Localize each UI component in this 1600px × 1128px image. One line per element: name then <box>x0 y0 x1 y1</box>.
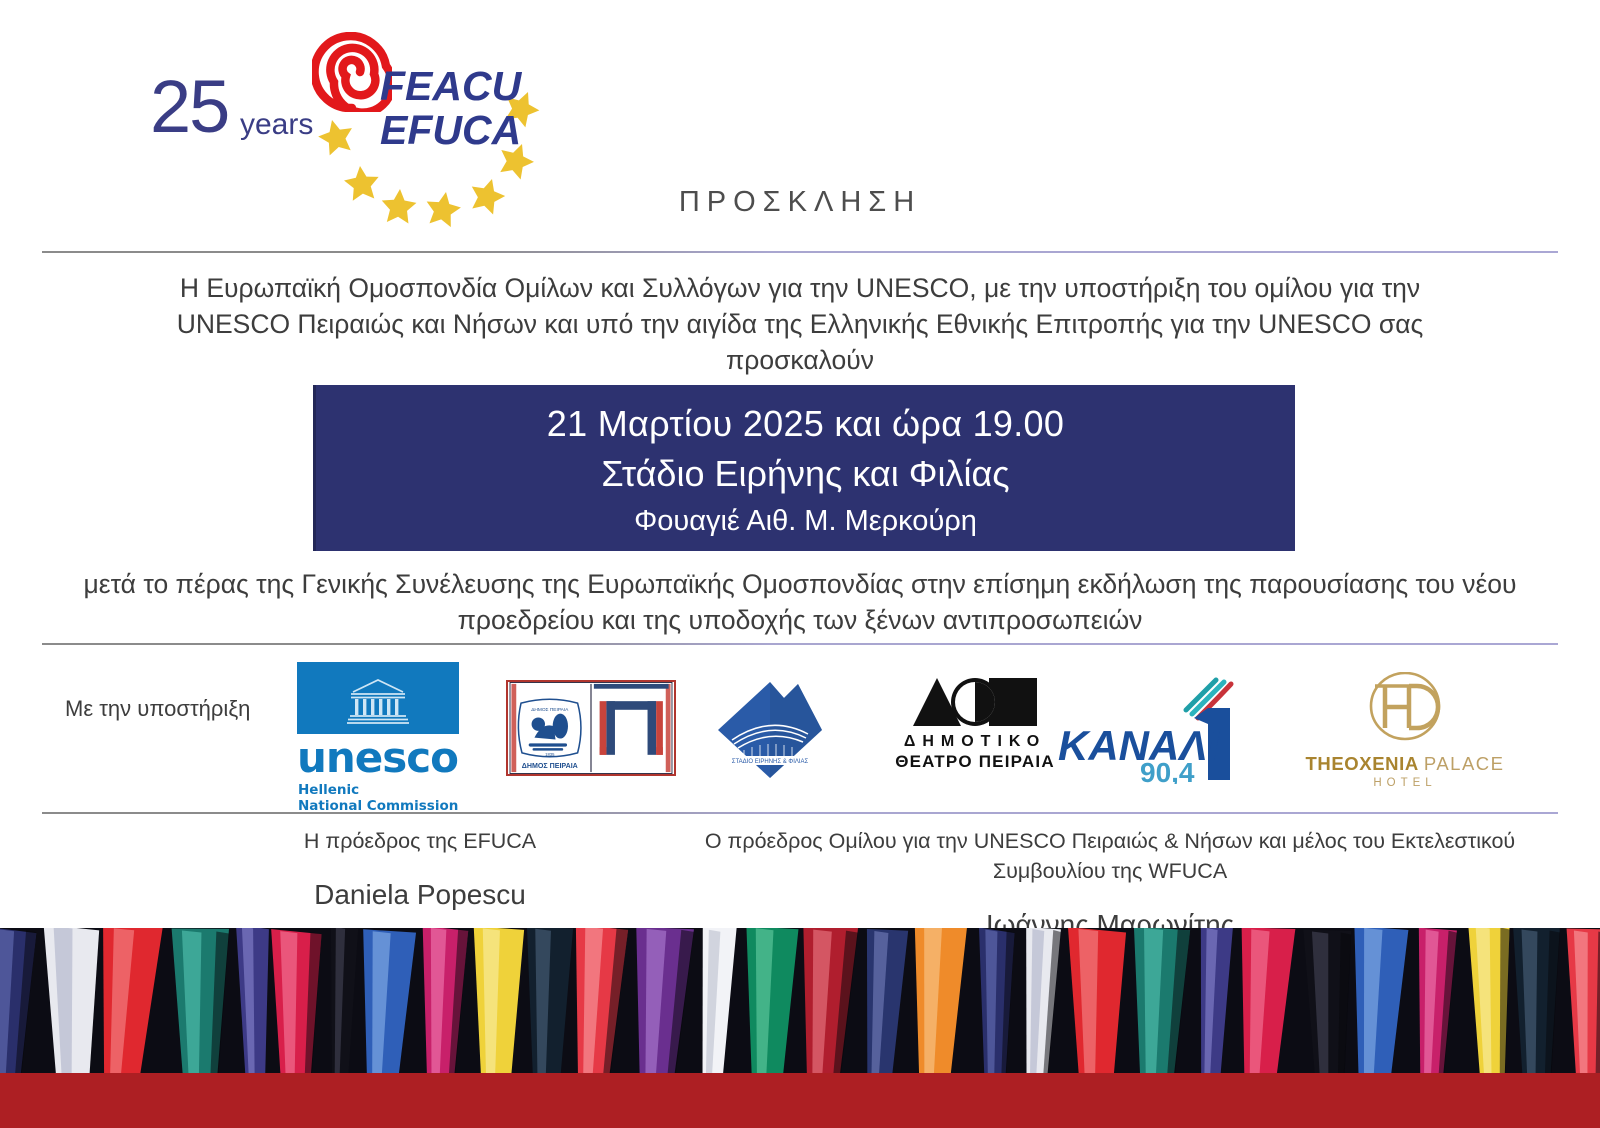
secondary-paragraph: μετά το πέρας της Γενικής Συνέλευσης της… <box>60 566 1540 638</box>
theatro-line1: ΔΗΜΟΤΙΚΟ <box>880 732 1070 752</box>
unesco-wordmark: unesco <box>290 736 465 780</box>
kanali-1-icon: ΚΑΝΑΛΙ 90,4 <box>1048 674 1248 784</box>
theoxenia-word1: THEOXENIA <box>1305 753 1418 774</box>
divider-sponsors <box>42 643 1558 645</box>
signature-role-left: Η πρόεδρος της EFUCA <box>180 826 660 856</box>
signature-block-right: Ο πρόεδρος Ομίλου για την UNESCO Πειραιώ… <box>700 826 1520 942</box>
invitation-page: 25 years FEACU EFUCA ΠΡΟΣΚΛΗΣΗ Η Ευρωπαϊ… <box>0 0 1600 1128</box>
signature-block-left: Η πρόεδρος της EFUCA Daniela Popescu <box>180 826 660 912</box>
theoxenia-word2: PALACE <box>1424 753 1505 774</box>
efuca-logo: 25 years FEACU EFUCA <box>140 28 560 208</box>
sponsors-row: unesco Hellenic National Commission <box>280 652 1530 810</box>
logo-acronym-feacu: FEACU <box>380 66 521 107</box>
sponsor-logo-dimos-peiraia: ΔΗΜΟΣ ΠΕΙΡΑΙΑ 1835 ΔΗΜΟΣ ΠΕΙΡΑΙΑ <box>502 680 680 776</box>
theatro-shapes-icon <box>911 676 1039 728</box>
footer-red-bar <box>0 1073 1600 1128</box>
event-date-time: 21 Μαρτίου 2025 και ώρα 19.00 <box>316 399 1295 449</box>
theoxenia-monogram-icon <box>1295 672 1515 744</box>
event-venue: Στάδιο Ειρήνης και Φιλίας <box>316 449 1295 499</box>
sponsor-logo-dimotiko-theatro: ΔΗΜΟΤΙΚΟ ΘΕΑΤΡΟ ΠΕΙΡΑΙΑ <box>880 676 1070 772</box>
svg-text:ΔΗΜΟΣ ΠΕΙΡΑΙΑ: ΔΗΜΟΣ ΠΕΙΡΑΙΑ <box>531 707 569 713</box>
sponsors-label: Με την υποστήριξη <box>65 696 250 722</box>
svg-text:1835: 1835 <box>545 752 555 757</box>
sponsor-logo-kanali-1: ΚΑΝΑΛΙ 90,4 <box>1048 674 1248 789</box>
dimos-peiraia-emblem-icon: ΔΗΜΟΣ ΠΕΙΡΑΙΑ 1835 ΔΗΜΟΣ ΠΕΙΡΑΙΑ <box>506 680 676 776</box>
logo-years-label: years <box>240 108 313 142</box>
event-details-box: 21 Μαρτίου 2025 και ώρα 19.00 Στάδιο Ειρ… <box>313 385 1295 551</box>
signature-name-left: Daniela Popescu <box>180 878 660 912</box>
divider-signatures <box>42 812 1558 814</box>
logo-anniversary-number: 25 <box>150 70 228 144</box>
theatro-line2: ΘΕΑΤΡΟ ΠΕΙΡΑΙΑ <box>880 752 1070 772</box>
unesco-emblem-icon <box>297 662 459 734</box>
theoxenia-subtitle: HOTEL <box>1295 777 1515 789</box>
logo-acronym-efuca: EFUCA <box>380 110 521 151</box>
sef-caption: ΣΤΑΔΙΟ ΕΙΡΗΝΗΣ & ΦΙΛΙΑΣ <box>732 759 809 765</box>
unesco-sub-line1: Hellenic <box>298 782 465 798</box>
page-title: ΠΡΟΣΚΛΗΣΗ <box>0 186 1600 219</box>
sef-diamond-icon: ΣΤΑΔΙΟ ΕΙΡΗΝΗΣ & ΦΙΛΙΑΣ <box>710 674 830 784</box>
sponsor-logo-stadio-eirinis: ΣΤΑΔΙΟ ΕΙΡΗΝΗΣ & ΦΙΛΙΑΣ <box>710 674 830 789</box>
dimos-peiraia-caption: ΔΗΜΟΣ ΠΕΙΡΑΙΑ <box>522 762 578 770</box>
sponsor-logo-theoxenia-palace: THEOXENIA PALACE HOTEL <box>1295 672 1515 789</box>
intro-paragraph: Η Ευρωπαϊκή Ομοσπονδία Ομίλων και Συλλόγ… <box>120 270 1480 378</box>
sponsor-logo-unesco: unesco Hellenic National Commission <box>290 662 465 814</box>
signature-role-right: Ο πρόεδρος Ομίλου για την UNESCO Πειραιώ… <box>700 826 1520 886</box>
divider-top <box>42 251 1558 253</box>
kanali-frequency: 90,4 <box>1140 757 1195 784</box>
flags-photo-strip <box>0 928 1600 1073</box>
event-hall: Φουαγιέ Αιθ. Μ. Μερκούρη <box>316 499 1295 543</box>
